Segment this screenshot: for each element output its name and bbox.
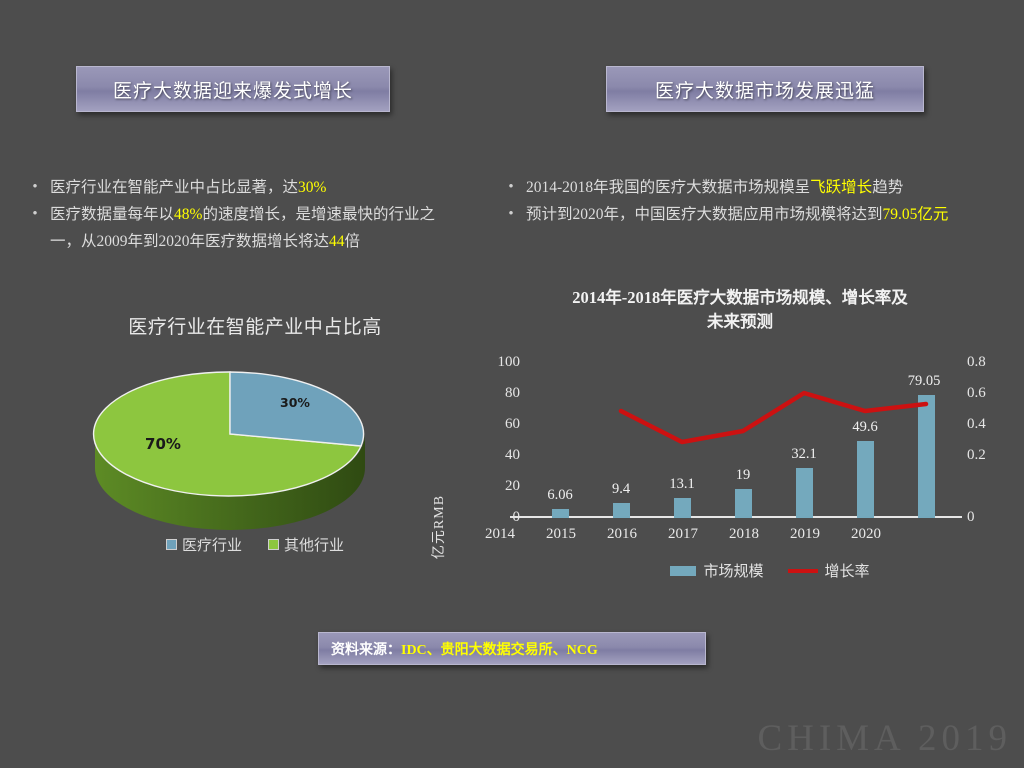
bullet-text: 医疗数据量每年以48%的速度增长，是增速最快的行业之一，从2009年到2020年…	[50, 201, 440, 255]
pie-label-30: 30%	[280, 395, 310, 410]
watermark: CHIMA 2019	[757, 717, 1012, 760]
bar-chart-plot-area: 6.06 9.4 13.1 19 32.1 49.6 79.05	[510, 348, 950, 518]
bar-chart-title: 2014年-2018年医疗大数据市场规模、增长率及 未来预测	[480, 286, 1000, 334]
growth-rate-line	[621, 393, 926, 442]
legend-item-other: 其他行业	[268, 534, 344, 555]
bullet-text-pre: 医疗行业在智能产业中占比显著，达	[50, 179, 298, 196]
bullet-text: 预计到2020年，中国医疗大数据应用市场规模将达到79.05亿元	[526, 201, 996, 228]
bar-chart-y-axis-label: 亿元RMB	[428, 472, 448, 582]
list-item: • 医疗行业在智能产业中占比显著，达30%	[20, 174, 440, 201]
y2-tick: 0.6	[967, 385, 1001, 402]
bar-chart-legend: 市场规模 增长率	[570, 560, 970, 581]
x-tick-2018: 2018	[715, 526, 773, 543]
legend-item-market-size: 市场规模	[670, 560, 763, 581]
bar-chart-title-line2: 未来预测	[480, 310, 1000, 334]
legend-label: 其他行业	[284, 534, 344, 555]
legend-label: 医疗行业	[182, 534, 242, 555]
x-tick-2015: 2015	[532, 526, 590, 543]
y2-tick: 0	[967, 509, 1001, 526]
legend-label: 市场规模	[703, 560, 763, 581]
source-label: 资料来源：	[331, 639, 401, 659]
bullet-dot-icon: •	[496, 201, 526, 228]
pie-chart: 医疗行业在智能产业中占比高	[90, 312, 420, 574]
legend-item-growth-rate: 增长率	[788, 560, 870, 581]
slide-root: 医疗大数据迎来爆发式增长 医疗大数据市场发展迅猛 • 医疗行业在智能产业中占比显…	[0, 0, 1024, 768]
bullet-list-left: • 医疗行业在智能产业中占比显著，达30% • 医疗数据量每年以48%的速度增长…	[20, 174, 440, 255]
bullet-highlight: 飞跃增长	[810, 179, 872, 196]
bar-chart-title-line1: 2014年-2018年医疗大数据市场规模、增长率及	[480, 286, 1000, 310]
legend-swatch-icon	[166, 539, 177, 550]
pie-chart-title: 医疗行业在智能产业中占比高	[90, 312, 420, 339]
bullet-text-pre: 预计到2020年，中国医疗大数据应用市场规模将达到	[526, 206, 883, 223]
x-tick-2014: 2014	[471, 526, 529, 543]
section-title-right: 医疗大数据市场发展迅猛	[606, 66, 924, 112]
y2-tick: 0.2	[967, 447, 1001, 464]
bullet-text: 2014-2018年我国的医疗大数据市场规模呈飞跃增长趋势	[526, 174, 996, 201]
pie-svg: 30% 70%	[90, 360, 420, 532]
bullet-dot-icon: •	[20, 201, 50, 228]
bar-line-chart: 2014年-2018年医疗大数据市场规模、增长率及 未来预测 亿元RMB 100…	[450, 282, 1024, 590]
bullet-dot-icon: •	[20, 174, 50, 201]
list-item: • 2014-2018年我国的医疗大数据市场规模呈飞跃增长趋势	[496, 174, 996, 201]
x-tick-2020: 2020	[837, 526, 895, 543]
bullet-highlight-2: 44	[329, 233, 345, 250]
bullet-highlight: 30%	[298, 179, 326, 196]
legend-bar-icon	[670, 566, 696, 576]
legend-swatch-icon	[268, 539, 279, 550]
legend-item-medical: 医疗行业	[166, 534, 242, 555]
x-tick-2017: 2017	[654, 526, 712, 543]
list-item: • 预计到2020年，中国医疗大数据应用市场规模将达到79.05亿元	[496, 201, 996, 228]
legend-line-icon	[788, 569, 818, 573]
y2-tick: 0.8	[967, 354, 1001, 371]
section-title-left: 医疗大数据迎来爆发式增长	[76, 66, 390, 112]
pie-chart-legend: 医疗行业 其他行业	[90, 534, 420, 555]
x-tick-2016: 2016	[593, 526, 651, 543]
growth-rate-line-svg	[510, 348, 962, 518]
legend-label: 增长率	[825, 560, 870, 581]
bullet-text-post: 趋势	[872, 179, 903, 196]
y2-tick: 0.4	[967, 416, 1001, 433]
bullet-text-pre: 医疗数据量每年以	[50, 206, 174, 223]
bullet-text-pre: 2014-2018年我国的医疗大数据市场规模呈	[526, 179, 810, 196]
bullet-highlight: 79.05亿元	[883, 206, 949, 223]
bullet-text-post-2: 倍	[345, 233, 361, 250]
pie-chart-canvas: 30% 70%	[90, 360, 420, 532]
bullet-text: 医疗行业在智能产业中占比显著，达30%	[50, 174, 440, 201]
pie-label-70: 70%	[145, 435, 181, 453]
list-item: • 医疗数据量每年以48%的速度增长，是增速最快的行业之一，从2009年到202…	[20, 201, 440, 255]
source-banner: 资料来源： IDC、贵阳大数据交易所、NCG	[318, 632, 706, 665]
source-value: IDC、贵阳大数据交易所、NCG	[401, 639, 598, 659]
x-tick-2019: 2019	[776, 526, 834, 543]
bullet-list-right: • 2014-2018年我国的医疗大数据市场规模呈飞跃增长趋势 • 预计到202…	[496, 174, 996, 228]
bullet-highlight: 48%	[174, 206, 202, 223]
bullet-dot-icon: •	[496, 174, 526, 201]
